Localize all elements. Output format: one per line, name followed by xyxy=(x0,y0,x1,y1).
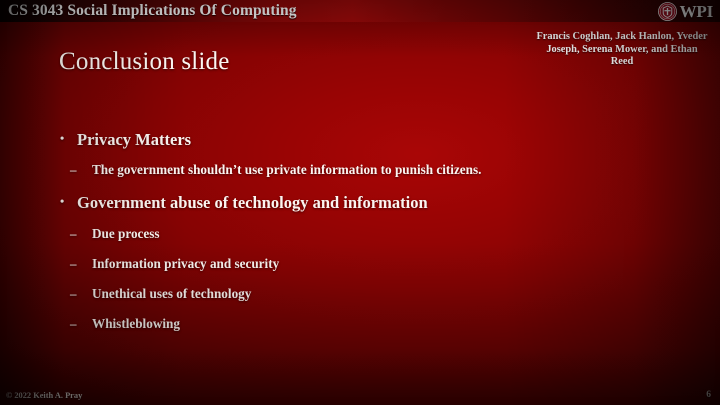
bullet-marker-dash: – xyxy=(70,287,92,300)
bullet-item: – Information privacy and security xyxy=(0,256,720,286)
course-title: CS 3043 Social Implications Of Computing xyxy=(8,2,297,20)
bullet-text: Government abuse of technology and infor… xyxy=(77,193,428,213)
bullet-text: The government shouldn’t use private inf… xyxy=(92,162,481,178)
bullet-text: Whistleblowing xyxy=(92,316,180,332)
bullet-item: – Unethical uses of technology xyxy=(0,286,720,316)
author-list: Francis Coghlan, Jack Hanlon, Yveder Jos… xyxy=(536,31,708,69)
bullet-item: – Due process xyxy=(0,226,720,256)
presentation-slide: CS 3043 Social Implications Of Computing… xyxy=(0,0,720,405)
bullet-marker-dot: • xyxy=(60,195,77,207)
bullet-text: Due process xyxy=(92,226,160,242)
slide-body: • Privacy Matters – The government shoul… xyxy=(0,130,720,346)
bullet-marker-dot: • xyxy=(60,132,77,144)
bullet-marker-dash: – xyxy=(70,227,92,240)
bullet-text: Privacy Matters xyxy=(77,130,191,150)
wpi-wordmark: WPI xyxy=(680,3,713,20)
slide-header-bar: CS 3043 Social Implications Of Computing… xyxy=(0,0,720,22)
wpi-logo: WPI xyxy=(658,0,713,22)
bullet-marker-dash: – xyxy=(70,163,92,176)
bullet-item: • Government abuse of technology and inf… xyxy=(0,193,720,226)
bullet-marker-dash: – xyxy=(70,317,92,330)
bullet-marker-dash: – xyxy=(70,257,92,270)
bullet-text: Information privacy and security xyxy=(92,256,279,272)
bullet-item: • Privacy Matters xyxy=(0,130,720,162)
bullet-item: – Whistleblowing xyxy=(0,316,720,346)
wpi-seal-icon xyxy=(658,2,677,21)
footer-copyright: © 2022 Keith A. Pray xyxy=(6,391,82,400)
bullet-item: – The government shouldn’t use private i… xyxy=(0,162,720,193)
slide-title: Conclusion slide xyxy=(59,48,230,76)
bullet-text: Unethical uses of technology xyxy=(92,286,251,302)
footer-page-number: 6 xyxy=(706,390,711,400)
